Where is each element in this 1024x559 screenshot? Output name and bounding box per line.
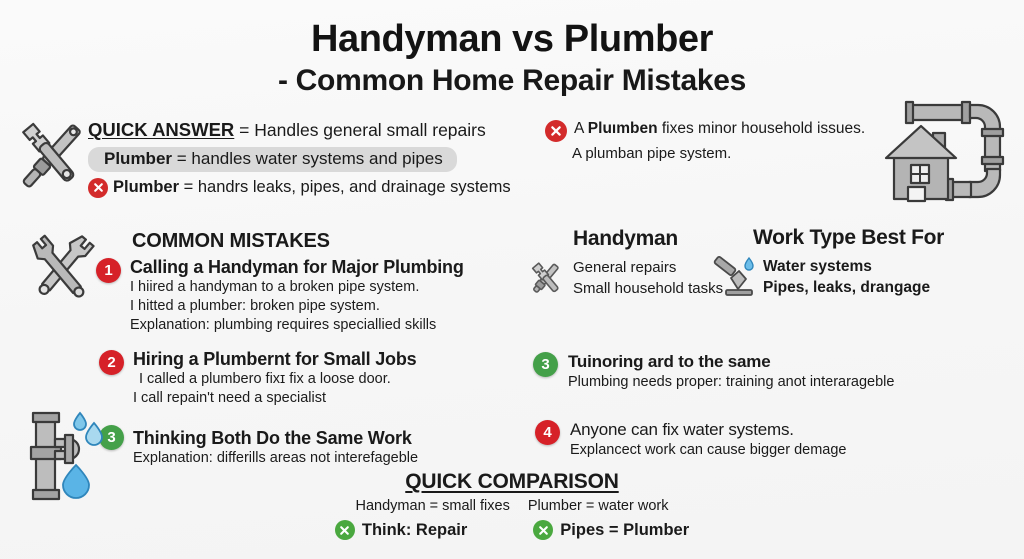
top-right-note: A Pluımben fixes minor household issues.…	[545, 120, 885, 162]
right-item-sub: Explancect work can cause bigger demage	[570, 442, 846, 458]
quick-answer-block: QUICK ANSWER = Handles general small rep…	[88, 118, 508, 198]
mistake-line: I hitted a plumber: broken pipe system.	[130, 297, 464, 316]
quick-comparison-item-label: Think: Repair	[362, 521, 467, 540]
title-block: Handyman vs Plumber - Common Home Repair…	[0, 18, 1024, 99]
plumber-pill-label: Plumber	[104, 149, 172, 168]
quick-answer-label: QUICK ANSWER	[88, 119, 234, 140]
quick-comparison-item: Think: Repair	[335, 520, 467, 540]
quick-answer-line: QUICK ANSWER = Handles general small rep…	[88, 118, 508, 142]
worktype-feature-line: Pipes, leaks, drangage	[763, 277, 930, 298]
right-item: 3 Tuinoring ard to the same Plumbing nee…	[533, 352, 933, 390]
mistake-line: I hiired a handyman to a broken pipe sys…	[130, 278, 464, 297]
mistake-item: 1 Calling a Handyman for Major Plumbing …	[96, 258, 516, 335]
right-item-number-badge: 4	[535, 420, 560, 445]
x-mark-icon	[545, 120, 567, 142]
top-right-note-text: A Pluımben fixes minor household issues.	[574, 120, 865, 138]
worktype-feature-list: Water systems Pipes, leaks, drangage	[712, 256, 930, 299]
right-item-number-badge: 3	[533, 352, 558, 377]
quick-comparison-sub-left: Handyman = small fixes	[356, 498, 510, 514]
common-mistakes-heading: COMMON MISTAKES	[132, 230, 330, 253]
mistake-item: 2 Hiring a Plumbernt for Small Jobs I ca…	[99, 350, 519, 408]
plumber-definition-pill: Plumber = handles water systems and pipe…	[88, 147, 457, 172]
right-item: 4 Anyone can fix water systems. Explance…	[535, 420, 935, 458]
note-post: fixes minor household issues.	[658, 120, 866, 137]
mistake-title: Hiring a Plumbernt for Small Jobs	[133, 349, 416, 370]
mistake-line: Explanation: differills areas not intere…	[133, 449, 418, 468]
handyman-feature-line: Small household tasks	[573, 279, 723, 300]
mistake-body: Hiring a Plumbernt for Small Jobs I call…	[133, 348, 416, 408]
right-item-title: Tuinoring ard to the same	[568, 352, 894, 372]
note-pre: A	[574, 120, 588, 137]
x-mark-icon	[88, 178, 108, 198]
mistake-line: I call repain't need a specialist	[133, 389, 416, 408]
quick-comparison-sub-right: Plumber = water work	[528, 498, 669, 514]
quick-answer-label-rest: = Handles general small repairs	[234, 120, 485, 140]
quick-comparison-items: Think: Repair Pipes = Plumber	[0, 520, 1024, 540]
mistake-title: Thinking Both Do the Same Work	[133, 428, 418, 449]
worktype-feature-lines: Water systems Pipes, leaks, drangage	[763, 256, 930, 299]
crossed-wrench-screwdriver-icon	[526, 258, 566, 298]
column-heading-worktype: Work Type Best For	[753, 226, 944, 250]
plumber-x-text: Plumber = handrs leaks, pipes, and drain…	[113, 178, 511, 197]
x-mark-icon	[533, 520, 553, 540]
worktype-feature-line: Water systems	[763, 256, 930, 277]
infographic-canvas: Handyman vs Plumber - Common Home Repair…	[0, 0, 1024, 559]
page-title: Handyman vs Plumber	[0, 18, 1024, 61]
quick-comparison-item-label: Pipes = Plumber	[560, 521, 689, 540]
note-bold: Pluımben	[588, 120, 658, 137]
x-mark-icon	[335, 520, 355, 540]
plumber-x-rest: = handrs leaks, pipes, and drainage syst…	[179, 178, 511, 196]
mistake-number-badge: 2	[99, 350, 124, 375]
top-right-note-line2: A plumbаn pipe system.	[572, 145, 885, 162]
quick-comparison-block: QUICK COMPARISON Handyman = small fixesP…	[0, 470, 1024, 540]
plumber-x-label: Plumber	[113, 178, 179, 196]
mistake-item: 3 Thinking Both Do the Same Work Explana…	[99, 425, 519, 468]
mistake-body: Thinking Both Do the Same Work Explanati…	[133, 427, 418, 468]
right-item-sub: Plumbing needs proper: training anot int…	[568, 374, 894, 390]
house-with-pipe-icon	[878, 95, 1010, 205]
crossed-wrenches-icon	[22, 228, 104, 313]
handyman-feature-list: General repairs Small household tasks	[526, 258, 723, 299]
page-subtitle: - Common Home Repair Mistakes	[0, 63, 1024, 99]
quick-comparison-subline: Handyman = small fixesPlumber = water wo…	[0, 498, 1024, 514]
right-item-body: Anyone can fix water systems. Explancect…	[570, 420, 846, 458]
mistake-line: Explanation: plumbing requires specialli…	[130, 316, 464, 335]
column-heading-handyman: Handyman	[573, 227, 678, 251]
mistake-line: I called a plumbero fixɪ fix a loose doo…	[139, 370, 416, 389]
plumber-x-line: Plumber = handrs leaks, pipes, and drain…	[88, 178, 508, 198]
mistake-title: Calling a Handyman for Major Plumbing	[130, 257, 464, 278]
handyman-feature-line: General repairs	[573, 258, 723, 279]
plumber-pill-rest: = handles water systems and pipes	[172, 149, 443, 168]
mistake-body: Calling a Handyman for Major Plumbing I …	[130, 256, 464, 335]
top-right-note-line1: A Pluımben fixes minor household issues.	[545, 120, 885, 142]
plunger-waterdrop-icon	[712, 256, 756, 298]
handyman-feature-lines: General repairs Small household tasks	[573, 258, 723, 299]
quick-comparison-title: QUICK COMPARISON	[0, 470, 1024, 494]
crossed-wrench-screwdriver-icon	[12, 112, 90, 200]
right-item-body: Tuinoring ard to the same Plumbing needs…	[568, 352, 894, 390]
mistake-number-badge: 1	[96, 258, 121, 283]
right-item-title: Anyone can fix water systems.	[570, 420, 846, 440]
quick-comparison-item: Pipes = Plumber	[533, 520, 689, 540]
